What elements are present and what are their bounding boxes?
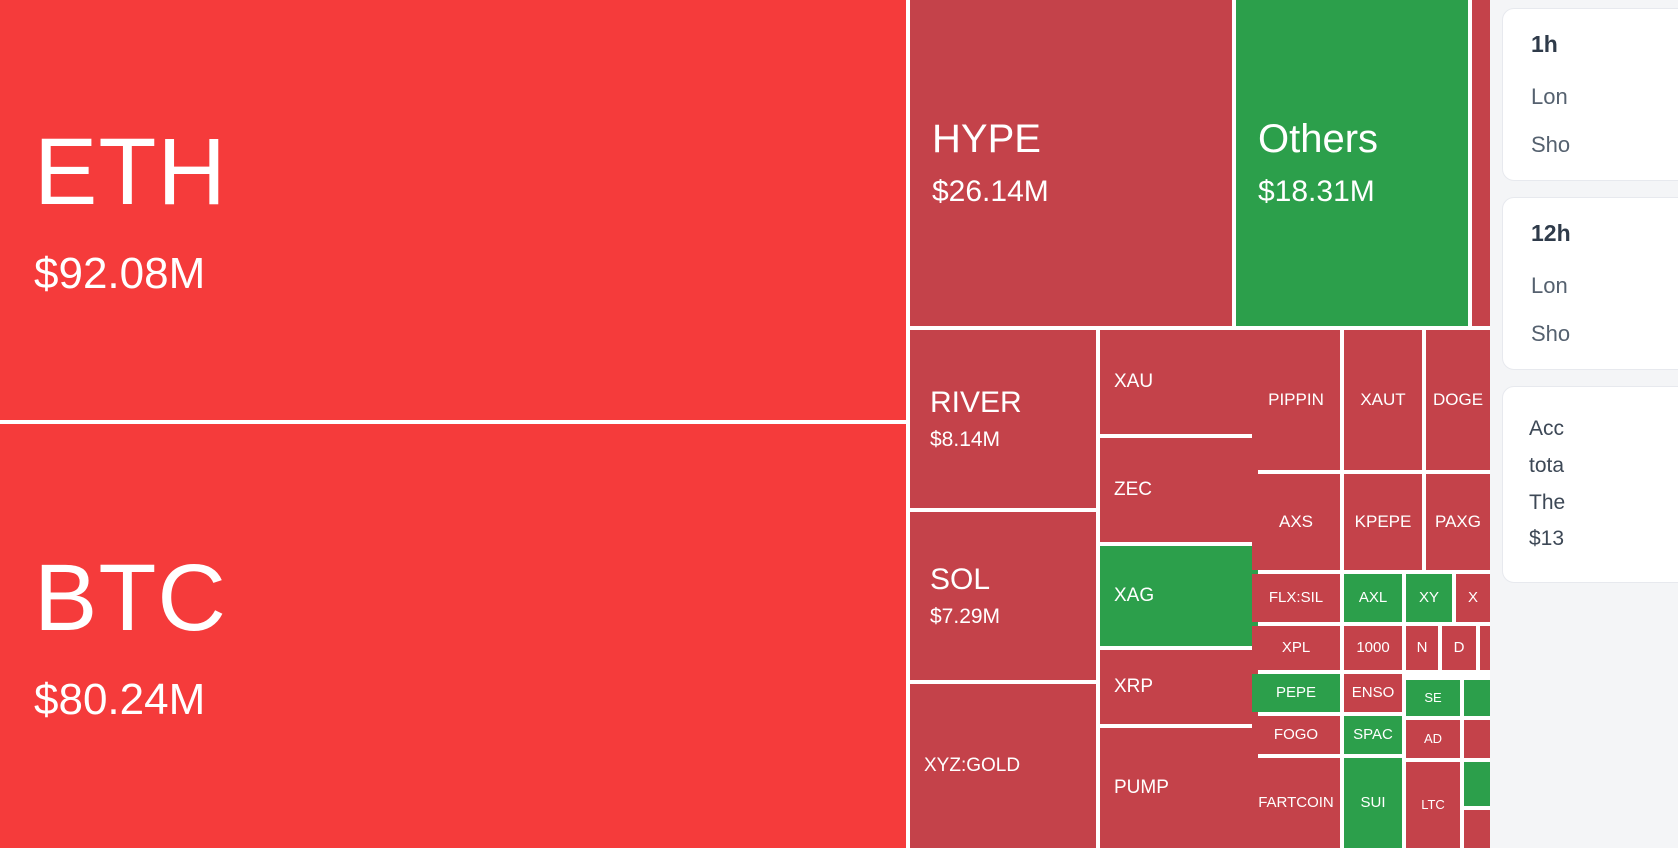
treemap-tile-pump[interactable]: PUMP [1100, 728, 1258, 848]
card-row-long: Lon [1531, 273, 1678, 299]
treemap-tile-hype[interactable]: HYPE $26.14M [910, 0, 1232, 326]
treemap-tile-n[interactable]: N [1406, 626, 1438, 670]
treemap-tile-se[interactable]: SE [1406, 680, 1460, 716]
tile-symbol: XAG [1114, 586, 1258, 606]
tile-symbol: FOGO [1274, 727, 1318, 743]
treemap-tile-sui[interactable]: SUI [1344, 758, 1402, 848]
tile-symbol: AD [1424, 732, 1442, 746]
tile-value: $92.08M [34, 251, 906, 297]
treemap-tile-zec[interactable]: ZEC [1100, 438, 1258, 542]
tile-symbol: XRP [1114, 677, 1258, 697]
tile-symbol: D [1454, 640, 1465, 656]
treemap-tile-sliver-right-c[interactable] [1464, 720, 1490, 758]
card-row-long: Lon [1531, 84, 1678, 110]
treemap-tile-pippin[interactable]: PIPPIN [1252, 330, 1340, 470]
card-row-short: Sho [1531, 321, 1678, 347]
tile-symbol: ZEC [1114, 480, 1258, 500]
treemap-tile-d[interactable]: D [1442, 626, 1476, 670]
tile-symbol: ENSO [1352, 685, 1395, 701]
tile-symbol: SUI [1360, 795, 1385, 811]
treemap-tile-xyz-gold[interactable]: XYZ:GOLD [910, 684, 1096, 848]
tile-symbol: FARTCOIN [1258, 795, 1334, 811]
treemap-tile-sliver-right-e[interactable] [1464, 810, 1490, 848]
treemap-tile-fartcoin[interactable]: FARTCOIN [1252, 758, 1340, 848]
tile-symbol: AXS [1279, 513, 1313, 531]
treemap-tile-paxg[interactable]: PAXG [1426, 474, 1490, 570]
tile-symbol: Others [1258, 118, 1468, 160]
treemap-tile-sliver-right-b[interactable] [1464, 680, 1490, 716]
treemap-tile-axs[interactable]: AXS [1252, 474, 1340, 570]
tile-value: $18.31M [1258, 176, 1468, 208]
tile-value: $26.14M [932, 176, 1232, 208]
tile-symbol: X [1468, 590, 1478, 606]
treemap-tile-axl[interactable]: AXL [1344, 574, 1402, 622]
note-line: The [1529, 485, 1678, 522]
treemap-tile-sliver-right-a[interactable] [1480, 626, 1490, 670]
treemap-tile-sol[interactable]: SOL $7.29M [910, 512, 1096, 680]
tile-value: $7.29M [930, 606, 1096, 628]
tile-symbol: XYZ:GOLD [924, 756, 1096, 776]
tile-symbol: FLX:SIL [1269, 590, 1323, 606]
tile-symbol: N [1417, 640, 1428, 656]
treemap-tile-sliver-top[interactable] [1472, 0, 1490, 326]
tile-symbol: XAU [1114, 372, 1258, 392]
tile-symbol: XY [1419, 590, 1439, 606]
treemap-tile-xaut[interactable]: XAUT [1344, 330, 1422, 470]
note-line: $13 [1529, 521, 1678, 558]
treemap-tile-doge[interactable]: DOGE [1426, 330, 1490, 470]
card-title: 12h [1531, 220, 1678, 247]
treemap-tile-fogo[interactable]: FOGO [1252, 716, 1340, 754]
treemap-tile-xpl[interactable]: XPL [1252, 626, 1340, 670]
stats-card-1h[interactable]: 1h Lon Sho [1502, 8, 1678, 181]
treemap-chart: ETH $92.08M BTC $80.24M HYPE $26.14M Oth… [0, 0, 1490, 848]
treemap-tile-xag[interactable]: XAG [1100, 546, 1258, 646]
liquidation-heatmap-page: ETH $92.08M BTC $80.24M HYPE $26.14M Oth… [0, 0, 1678, 848]
treemap-tile-ad[interactable]: AD [1406, 720, 1460, 758]
treemap-tile-ltc[interactable]: LTC [1406, 762, 1460, 848]
note-line: tota [1529, 448, 1678, 485]
tile-symbol: PEPE [1276, 685, 1316, 701]
note-line: Acc [1529, 411, 1678, 448]
tile-symbol: LTC [1421, 798, 1445, 812]
treemap-tile-spac[interactable]: SPAC [1344, 716, 1402, 754]
treemap-tile-eth[interactable]: ETH $92.08M [0, 0, 906, 420]
treemap-tile-xy[interactable]: XY [1406, 574, 1452, 622]
tile-symbol: PUMP [1114, 778, 1258, 798]
treemap-tile-flx-sil[interactable]: FLX:SIL [1252, 574, 1340, 622]
tile-symbol: BTC [34, 549, 906, 649]
tile-symbol: PAXG [1435, 513, 1481, 531]
treemap-tile-btc[interactable]: BTC $80.24M [0, 424, 906, 848]
tile-symbol: 1000 [1356, 640, 1389, 656]
tile-symbol: PIPPIN [1268, 391, 1324, 409]
tile-symbol: SPAC [1353, 727, 1393, 743]
treemap-tile-river[interactable]: RIVER $8.14M [910, 330, 1096, 508]
treemap-tile-enso[interactable]: ENSO [1344, 674, 1402, 712]
tile-symbol: AXL [1359, 590, 1387, 606]
card-row-short: Sho [1531, 132, 1678, 158]
stats-card-12h[interactable]: 12h Lon Sho [1502, 197, 1678, 370]
treemap-tile-sliver-right-d[interactable] [1464, 762, 1490, 806]
tile-symbol: XAUT [1360, 391, 1405, 409]
tile-value: $80.24M [34, 677, 906, 723]
tile-symbol: RIVER [930, 387, 1096, 419]
treemap-tile-xrp[interactable]: XRP [1100, 650, 1258, 724]
treemap-tile-others[interactable]: Others $18.31M [1236, 0, 1468, 326]
treemap-tile-xau[interactable]: XAU [1100, 330, 1258, 434]
tile-symbol: XPL [1282, 640, 1310, 656]
summary-note-card: Acc tota The $13 [1502, 386, 1678, 583]
stats-sidebar: 1h Lon Sho 12h Lon Sho Acc tota The $13 [1490, 0, 1678, 848]
tile-symbol: KPEPE [1355, 513, 1412, 531]
card-title: 1h [1531, 31, 1678, 58]
tile-symbol: SOL [930, 564, 1096, 596]
tile-symbol: HYPE [932, 118, 1232, 160]
tile-symbol: SE [1424, 691, 1441, 705]
treemap-tile-1000[interactable]: 1000 [1344, 626, 1402, 670]
tile-value: $8.14M [930, 429, 1096, 451]
treemap-tile-x[interactable]: X [1456, 574, 1490, 622]
tile-symbol: ETH [34, 123, 906, 223]
treemap-tile-pepe[interactable]: PEPE [1252, 674, 1340, 712]
treemap-tile-kpepe[interactable]: KPEPE [1344, 474, 1422, 570]
tile-symbol: DOGE [1433, 391, 1483, 409]
